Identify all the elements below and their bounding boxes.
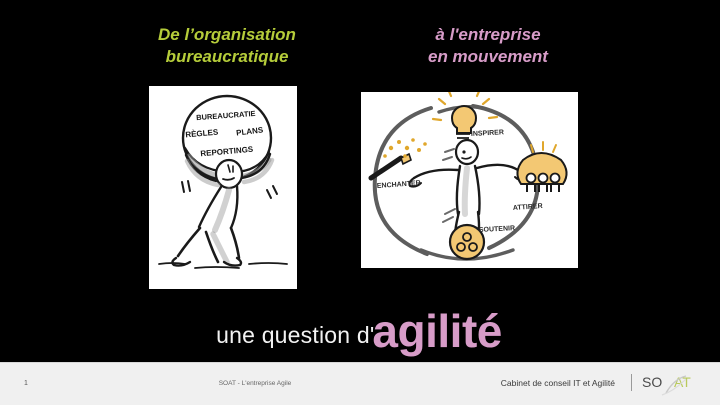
footer-company-tagline: Cabinet de conseil IT et Agilité [501,378,615,388]
headline-right: à l'entreprise en mouvement [398,24,578,68]
label-inspirer: INSPIRER [471,129,504,138]
headline-right-line2: en mouvement [398,46,578,68]
label-soutenir: SOUTENIR [479,225,515,234]
headline-left: De l’organisation bureaucratique [137,24,317,68]
image-entreprise-en-mouvement: INSPIRER ENCHANTER ATTIRER SOUTENIR [361,92,578,268]
tagline: une question d'agilité [0,300,720,354]
slide-canvas: De l’organisation bureaucratique à l'ent… [0,0,720,405]
footer-page-number: 1 [24,380,28,387]
footer-deck-title: SOAT - L'entreprise Agile [160,380,350,387]
label-attirer: ATTIRER [513,203,543,212]
bureaucratic-sketch: BUREAUCRATIE RÈGLES PLANS REPORTINGS [149,86,297,289]
headline-right-line1: à l'entreprise [398,24,578,46]
soat-logo-text-dark: SO [642,374,662,390]
label-enchanter: ENCHANTER [377,180,421,190]
tagline-accent-word: agilité [372,305,501,357]
team-icon [517,142,566,192]
soat-logo: SO AT [640,371,708,397]
footer-divider [631,374,632,391]
agile-sketch: INSPIRER ENCHANTER ATTIRER SOUTENIR [361,92,578,268]
slide-footer: 1 SOAT - L'entreprise Agile Cabinet de c… [0,362,720,405]
tagline-lead-text: une question d' [216,322,374,348]
headline-left-line1: De l’organisation [137,24,317,46]
headline-left-line2: bureaucratique [137,46,317,68]
image-bureaucratic-organisation: BUREAUCRATIE RÈGLES PLANS REPORTINGS [149,86,297,289]
